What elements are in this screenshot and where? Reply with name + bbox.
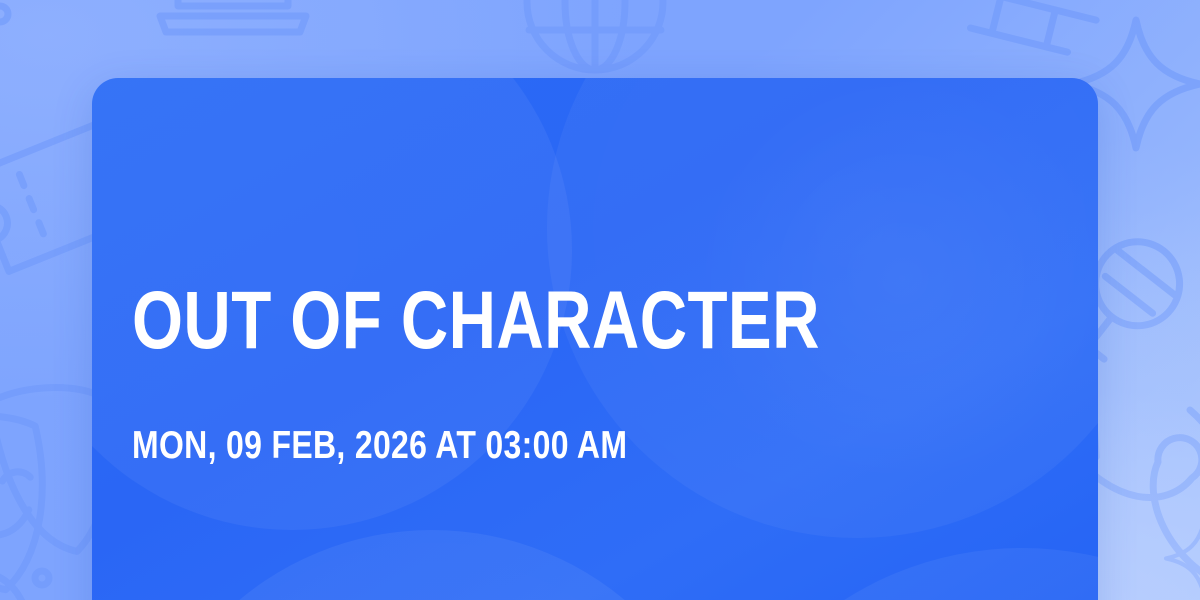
event-card: OUT OF CHARACTER MON, 09 FEB, 2026 AT 03… — [92, 78, 1098, 600]
event-banner: OUT OF CHARACTER MON, 09 FEB, 2026 AT 03… — [0, 0, 1200, 600]
event-title: OUT OF CHARACTER — [132, 274, 820, 368]
event-card-content: OUT OF CHARACTER MON, 09 FEB, 2026 AT 03… — [132, 78, 1058, 600]
event-datetime: MON, 09 FEB, 2026 AT 03:00 AM — [132, 422, 627, 470]
